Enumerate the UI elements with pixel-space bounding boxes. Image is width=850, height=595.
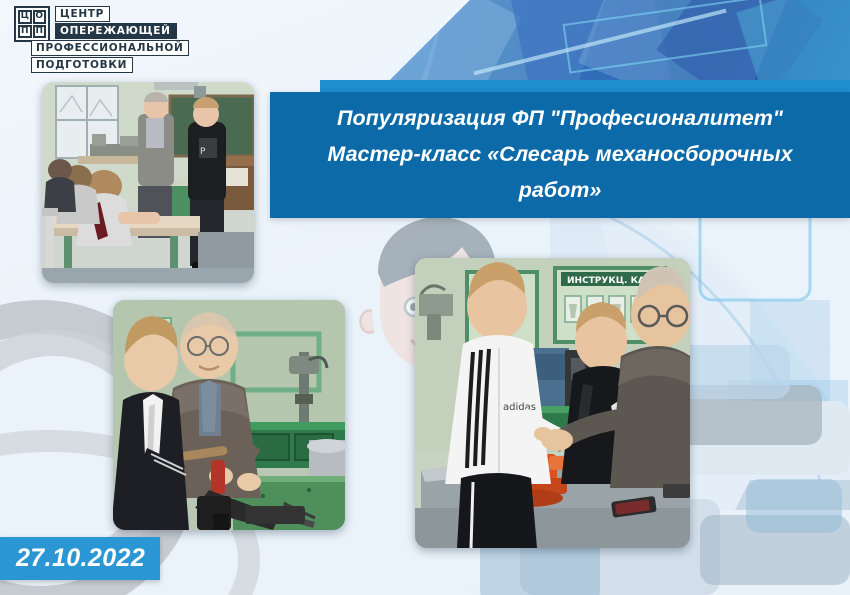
- date-badge: 27.10.2022: [0, 537, 160, 580]
- photo-classroom: P: [42, 82, 254, 283]
- svg-text:P: P: [200, 147, 206, 157]
- photo-vise-instruction: [113, 300, 345, 530]
- title-line-2: Мастер-класс «Слесарь механосборочных ра…: [284, 136, 836, 208]
- logo-line-3: ПРОФЕССИОНАЛЬНОЙ: [31, 40, 189, 56]
- monogram-letter: П: [18, 25, 32, 39]
- title-line-1: Популяризация ФП "Професионалитет": [337, 100, 783, 136]
- monogram-letter: Ц: [18, 10, 32, 24]
- copp-monogram-icon: Ц О П П: [14, 6, 50, 42]
- organization-logo: Ц О П П ЦЕНТР ОПЕРЕЖАЮЩЕЙ ПРОФЕССИОНАЛЬН…: [14, 6, 189, 73]
- photo-workshop-vise: ИНСТРУКЦ. КАРТА: [415, 258, 690, 548]
- title-banner: Популяризация ФП "Професионалитет" Масте…: [270, 92, 850, 218]
- monogram-letter: О: [33, 10, 47, 24]
- slide-canvas: Ц О П П ЦЕНТР ОПЕРЕЖАЮЩЕЙ ПРОФЕССИОНАЛЬН…: [0, 0, 850, 595]
- logo-line-2: ОПЕРЕЖАЮЩЕЙ: [55, 23, 177, 39]
- monogram-letter: П: [33, 25, 47, 39]
- logo-line-4: ПОДГОТОВКИ: [31, 57, 133, 73]
- logo-line-1: ЦЕНТР: [55, 6, 110, 22]
- logo-wordmark: ЦЕНТР ОПЕРЕЖАЮЩЕЙ ПРОФЕССИОНАЛЬНОЙ ПОДГО…: [55, 6, 189, 73]
- date-text: 27.10.2022: [16, 544, 145, 573]
